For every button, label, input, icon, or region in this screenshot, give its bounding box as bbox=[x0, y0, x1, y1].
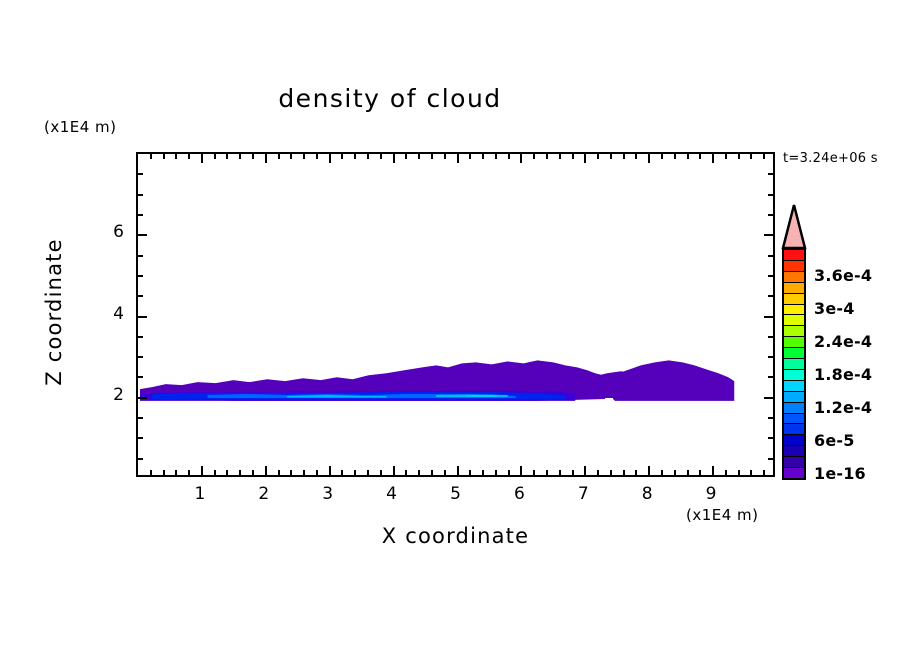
y-axis-tick bbox=[138, 295, 143, 297]
colorbar-band bbox=[784, 370, 804, 381]
x-axis-tick-label: 1 bbox=[180, 484, 220, 504]
y-axis-tick bbox=[138, 376, 143, 378]
x-axis-tick bbox=[648, 466, 650, 475]
x-axis-tick bbox=[329, 466, 331, 475]
colorbar-band bbox=[784, 294, 804, 305]
colorbar-band bbox=[784, 392, 804, 403]
colorbar-band bbox=[784, 337, 804, 348]
x-axis-tick bbox=[226, 470, 228, 475]
x-axis-tick bbox=[252, 470, 254, 475]
x-axis-tick bbox=[559, 154, 561, 159]
x-axis-tick bbox=[674, 470, 676, 475]
x-axis-tick bbox=[725, 154, 727, 159]
x-axis-tick-label: 7 bbox=[563, 484, 603, 504]
x-axis-tick bbox=[405, 470, 407, 475]
y-axis-tick-label: 6 bbox=[96, 222, 124, 242]
colorbar-band bbox=[784, 403, 804, 414]
x-axis-tick bbox=[214, 154, 216, 159]
x-axis-tick-label: 6 bbox=[499, 484, 539, 504]
x-axis-tick bbox=[469, 154, 471, 159]
x-axis-tick bbox=[265, 154, 267, 163]
x-axis-tick bbox=[418, 470, 420, 475]
x-axis-tick bbox=[763, 470, 765, 475]
x-axis-tick bbox=[278, 154, 280, 159]
x-axis-tick bbox=[597, 154, 599, 159]
colorbar-band bbox=[784, 315, 804, 326]
y-axis-tick bbox=[138, 417, 143, 419]
figure-canvas: density of cloud (x1E4 m) t=3.24e+06 s bbox=[0, 0, 904, 654]
x-axis-tick bbox=[444, 470, 446, 475]
colorbar-band bbox=[784, 283, 804, 294]
x-axis-tick bbox=[163, 470, 165, 475]
x-axis-tick bbox=[201, 154, 203, 163]
x-axis-tick bbox=[431, 470, 433, 475]
y-axis-tick bbox=[768, 437, 773, 439]
colorbar-bands bbox=[782, 248, 806, 480]
x-axis-tick bbox=[290, 470, 292, 475]
x-axis-tick bbox=[508, 154, 510, 159]
colorbar-band bbox=[784, 424, 804, 435]
y-units-label: (x1E4 m) bbox=[44, 118, 117, 136]
y-axis-tick bbox=[138, 214, 143, 216]
x-axis-tick bbox=[687, 154, 689, 159]
x-axis-tick bbox=[418, 154, 420, 159]
x-axis-tick bbox=[572, 470, 574, 475]
x-axis-tick bbox=[316, 154, 318, 159]
x-axis-tick bbox=[725, 470, 727, 475]
colorbar-tick-label: 6e-5 bbox=[814, 431, 855, 450]
x-axis-tick bbox=[175, 154, 177, 159]
x-axis-tick bbox=[738, 470, 740, 475]
x-axis-tick bbox=[687, 470, 689, 475]
y-axis-tick bbox=[764, 397, 773, 399]
x-axis-tick bbox=[239, 154, 241, 159]
x-axis-tick bbox=[265, 466, 267, 475]
x-axis-tick bbox=[674, 154, 676, 159]
x-axis-tick bbox=[495, 154, 497, 159]
x-axis-tick bbox=[303, 154, 305, 159]
y-axis-tick bbox=[768, 417, 773, 419]
colorbar-band bbox=[784, 446, 804, 457]
plot-area bbox=[136, 152, 775, 477]
colorbar-band bbox=[784, 381, 804, 392]
x-axis-tick bbox=[635, 470, 637, 475]
y-axis-tick bbox=[768, 356, 773, 358]
x-axis-tick-label: 8 bbox=[627, 484, 667, 504]
x-axis-tick bbox=[648, 154, 650, 163]
x-axis-tick bbox=[584, 154, 586, 163]
x-units-label: (x1E4 m) bbox=[686, 506, 759, 524]
x-axis-tick bbox=[367, 470, 369, 475]
x-axis-tick bbox=[457, 154, 459, 163]
x-axis-tick bbox=[405, 154, 407, 159]
x-axis-tick bbox=[290, 154, 292, 159]
colorbar-tick-label: 3e-4 bbox=[814, 299, 855, 318]
y-axis-tick bbox=[768, 194, 773, 196]
y-axis-tick-label: 2 bbox=[96, 385, 124, 405]
x-axis-tick bbox=[495, 470, 497, 475]
x-axis-tick bbox=[188, 470, 190, 475]
y-axis-title: Z coordinate bbox=[42, 227, 66, 397]
y-axis-tick bbox=[138, 336, 143, 338]
colorbar-tick-label: 1.8e-4 bbox=[814, 365, 872, 384]
x-axis-tick bbox=[303, 470, 305, 475]
x-axis-tick bbox=[239, 470, 241, 475]
x-axis-tick bbox=[508, 470, 510, 475]
y-axis-tick bbox=[764, 316, 773, 318]
colorbar bbox=[780, 203, 810, 481]
x-axis-tick bbox=[597, 470, 599, 475]
x-axis-tick bbox=[635, 154, 637, 159]
page-title: density of cloud bbox=[0, 84, 780, 113]
colorbar-band bbox=[784, 414, 804, 425]
x-axis-tick bbox=[252, 154, 254, 159]
x-axis-tick bbox=[699, 154, 701, 159]
colorbar-band bbox=[784, 435, 804, 446]
y-axis-tick bbox=[138, 397, 147, 399]
x-axis-tick bbox=[623, 470, 625, 475]
x-axis-tick-label: 9 bbox=[691, 484, 731, 504]
y-axis-tick bbox=[138, 255, 143, 257]
x-axis-tick bbox=[610, 154, 612, 159]
x-axis-tick-label: 4 bbox=[372, 484, 412, 504]
y-axis-tick bbox=[138, 316, 147, 318]
x-axis-tick bbox=[712, 154, 714, 163]
x-axis-tick bbox=[431, 154, 433, 159]
y-axis-tick bbox=[768, 275, 773, 277]
x-axis-tick bbox=[469, 470, 471, 475]
x-axis-tick bbox=[457, 466, 459, 475]
x-axis-tick bbox=[584, 466, 586, 475]
colorbar-band bbox=[784, 468, 804, 478]
colorbar-band bbox=[784, 250, 804, 261]
y-axis-tick bbox=[764, 234, 773, 236]
x-axis-tick bbox=[661, 154, 663, 159]
x-axis-tick bbox=[226, 154, 228, 159]
colorbar-band bbox=[784, 326, 804, 337]
colorbar-tick-label: 2.4e-4 bbox=[814, 332, 872, 351]
colorbar-band bbox=[784, 305, 804, 316]
y-axis-tick bbox=[138, 356, 143, 358]
x-axis-tick bbox=[329, 154, 331, 163]
x-axis-tick bbox=[482, 154, 484, 159]
colorbar-band bbox=[784, 261, 804, 272]
x-axis-tick bbox=[559, 470, 561, 475]
x-axis-tick bbox=[699, 470, 701, 475]
plot-inner bbox=[138, 154, 773, 475]
x-axis-tick bbox=[533, 470, 535, 475]
y-axis-tick bbox=[768, 295, 773, 297]
x-axis-tick bbox=[610, 470, 612, 475]
x-axis-tick bbox=[380, 154, 382, 159]
x-axis-tick bbox=[520, 466, 522, 475]
colorbar-tick-label: 1.2e-4 bbox=[814, 398, 872, 417]
x-axis-tick bbox=[188, 154, 190, 159]
y-axis-tick bbox=[138, 194, 143, 196]
y-axis-tick bbox=[768, 173, 773, 175]
y-axis-tick bbox=[768, 214, 773, 216]
x-axis-tick bbox=[201, 466, 203, 475]
y-axis-tick bbox=[768, 376, 773, 378]
y-axis-tick bbox=[138, 173, 143, 175]
x-axis-tick-label: 2 bbox=[244, 484, 284, 504]
colorbar-band bbox=[784, 359, 804, 370]
x-axis-tick bbox=[393, 466, 395, 475]
colorbar-tick-label: 1e-16 bbox=[814, 464, 866, 483]
x-axis-tick bbox=[750, 470, 752, 475]
x-axis-tick bbox=[163, 154, 165, 159]
x-axis-tick bbox=[380, 470, 382, 475]
x-axis-tick bbox=[341, 154, 343, 159]
x-axis-tick bbox=[150, 154, 152, 159]
x-axis-tick bbox=[750, 154, 752, 159]
colorbar-arrow-icon bbox=[780, 203, 808, 249]
x-axis-tick bbox=[367, 154, 369, 159]
colorbar-band bbox=[784, 457, 804, 468]
x-axis-tick-label: 5 bbox=[436, 484, 476, 504]
colorbar-tick-label: 3.6e-4 bbox=[814, 266, 872, 285]
x-axis-tick bbox=[444, 154, 446, 159]
x-axis-tick bbox=[572, 154, 574, 159]
x-axis-tick-label: 3 bbox=[308, 484, 348, 504]
x-axis-tick bbox=[738, 154, 740, 159]
x-axis-tick bbox=[533, 154, 535, 159]
x-axis-tick bbox=[520, 154, 522, 163]
x-axis-tick bbox=[661, 470, 663, 475]
time-annotation: t=3.24e+06 s bbox=[783, 151, 878, 166]
y-axis-tick-label: 4 bbox=[96, 304, 124, 324]
x-axis-tick bbox=[354, 470, 356, 475]
x-axis-tick bbox=[214, 470, 216, 475]
x-axis-tick bbox=[150, 470, 152, 475]
x-axis-tick bbox=[712, 466, 714, 475]
x-axis-tick bbox=[546, 470, 548, 475]
x-axis-title: X coordinate bbox=[136, 524, 775, 548]
y-axis-tick bbox=[768, 458, 773, 460]
x-axis-tick bbox=[316, 470, 318, 475]
x-axis-tick bbox=[482, 470, 484, 475]
x-axis-tick bbox=[354, 154, 356, 159]
x-axis-tick bbox=[393, 154, 395, 163]
colorbar-band bbox=[784, 272, 804, 283]
y-axis-tick bbox=[138, 234, 147, 236]
x-axis-tick bbox=[623, 154, 625, 159]
x-axis-tick bbox=[763, 154, 765, 159]
y-axis-tick bbox=[138, 437, 143, 439]
y-axis-tick bbox=[138, 458, 143, 460]
x-axis-tick bbox=[341, 470, 343, 475]
x-axis-tick bbox=[546, 154, 548, 159]
cloud-density-contours bbox=[138, 154, 773, 475]
y-axis-tick bbox=[768, 336, 773, 338]
x-axis-tick bbox=[175, 470, 177, 475]
x-axis-tick bbox=[278, 470, 280, 475]
y-axis-tick bbox=[138, 275, 143, 277]
y-axis-tick bbox=[768, 255, 773, 257]
colorbar-band bbox=[784, 348, 804, 359]
